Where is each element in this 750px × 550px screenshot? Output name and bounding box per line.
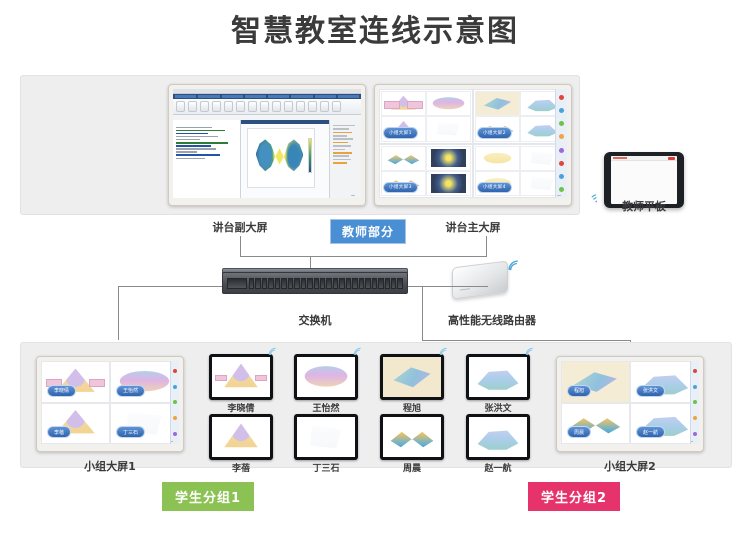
main-quadrant-2[interactable]: 小组大屏2 (473, 89, 567, 144)
group2-screen-name-4: 赵一航 (636, 426, 665, 438)
student-tablet-6[interactable] (466, 354, 530, 400)
podium-main-screen-label: 讲台主大屏 (423, 219, 523, 235)
group2-big-screen[interactable]: 程旭 张洪文 周晨 赵一航 (556, 356, 704, 452)
page-title: 智慧教室连线示意图 (0, 6, 750, 50)
group1-screen-toolbar[interactable] (170, 361, 179, 444)
line-switch-router (408, 286, 488, 287)
line-bottom-right-horizontal (422, 340, 630, 341)
tablet-app-grid[interactable] (611, 161, 677, 169)
student-tablet-4[interactable] (294, 414, 358, 460)
podium-secondary-screen-label: 讲台副大屏 (190, 219, 290, 235)
group2-quadrant-4[interactable]: 赵一航 (630, 403, 699, 445)
line-main-down (486, 236, 487, 257)
wifi-icon-teacher-tablet (590, 192, 603, 205)
surface-plot (247, 128, 315, 188)
ide-ribbon-toolbar (173, 99, 361, 115)
group1-big-screen-label: 小组大屏1 (60, 458, 160, 474)
line-top-horizontal (240, 256, 486, 257)
line-switch-left (118, 286, 222, 287)
network-switch-device (222, 272, 408, 294)
main-screen-toolbar[interactable] (555, 89, 567, 198)
line-router-down-2 (422, 312, 423, 340)
group1-screen-name-1: 李晓倩 (47, 385, 76, 397)
teacher-section-badge: 教师部分 (330, 219, 406, 244)
student-tablet-8[interactable] (466, 414, 530, 460)
ide-figure-window (241, 120, 329, 198)
wifi-icon-tablet-2 (352, 346, 363, 357)
podium-secondary-screen[interactable]: ▬▬ (168, 84, 366, 206)
student-tablet-3[interactable] (209, 414, 273, 460)
group1-quadrant-1[interactable]: 李晓倩 (41, 361, 110, 403)
main-quadrant-1[interactable]: 小组大屏1 (379, 89, 473, 144)
student-tablet-4-label: 丁三石 (291, 461, 361, 474)
group2-quadrant-1[interactable]: 程旭 (561, 361, 630, 403)
switch-label: 交换机 (270, 312, 360, 328)
main-screen-badge-1: 小组大屏1 (383, 127, 418, 138)
main-screen-badge-4: 小组大屏4 (477, 182, 512, 193)
group1-screen-name-3: 李蓓 (47, 426, 71, 438)
ide-right-pane (329, 120, 361, 198)
group2-screen-name-1: 程旭 (567, 385, 591, 397)
main-quadrant-4[interactable]: 小组大屏4 (473, 144, 567, 199)
wireless-router-device (452, 264, 508, 296)
wifi-icon-tablet-1 (267, 346, 278, 357)
podium-main-screen[interactable]: 小组大屏1 小组大屏2 (374, 84, 572, 206)
wifi-icon-router (506, 258, 521, 273)
student-tablet-2[interactable] (294, 354, 358, 400)
group2-screen-toolbar[interactable] (690, 361, 699, 444)
student-tablet-3-label: 李蓓 (206, 461, 276, 474)
ide-body (173, 120, 361, 198)
student-tablet-5-label: 程旭 (377, 401, 447, 414)
student-tablet-6-label: 张洪文 (463, 401, 533, 414)
group1-big-screen[interactable]: 李晓倩 王怡然 李蓓 丁三石 (36, 356, 184, 452)
line-router-down (422, 286, 423, 312)
line-secondary-down (240, 236, 241, 256)
main-quadrant-3[interactable]: 小组大屏3 (379, 144, 473, 199)
student-tablet-1[interactable] (209, 354, 273, 400)
wifi-icon-tablet-6 (524, 346, 535, 357)
line-left-down (118, 286, 119, 340)
group2-badge: 学生分组2 (528, 482, 620, 511)
group2-big-screen-label: 小组大屏2 (580, 458, 680, 474)
student-tablet-8-label: 赵一航 (463, 461, 533, 474)
group2-screen-name-3: 周晨 (567, 426, 591, 438)
student-tablet-2-label: 王怡然 (291, 401, 361, 414)
student-tablet-1-label: 李晓倩 (206, 401, 276, 414)
colorbar (308, 138, 312, 173)
group1-badge: 学生分组1 (162, 482, 254, 511)
student-tablet-7[interactable] (380, 414, 444, 460)
group1-quadrant-3[interactable]: 李蓓 (41, 403, 110, 445)
main-screen-quadrants: 小组大屏1 小组大屏2 (379, 89, 567, 198)
diagram-canvas: 智慧教室连线示意图 (0, 0, 750, 550)
wifi-icon-tablet-5 (438, 346, 449, 357)
main-screen-badge-3: 小组大屏3 (383, 182, 418, 193)
group2-screen-name-2: 张洪文 (636, 385, 665, 397)
group2-quadrant-3[interactable]: 周晨 (561, 403, 630, 445)
group1-quadrant-2[interactable]: 王怡然 (110, 361, 179, 403)
group2-quadrant-2[interactable]: 张洪文 (630, 361, 699, 403)
ide-code-editor (173, 120, 241, 198)
group1-quadrant-4[interactable]: 丁三石 (110, 403, 179, 445)
group1-screen-name-4: 丁三石 (116, 426, 145, 438)
main-screen-badge-2: 小组大屏2 (477, 127, 512, 138)
router-label: 高性能无线路由器 (432, 312, 552, 328)
ide-window (173, 89, 361, 198)
student-tablet-7-label: 周晨 (377, 461, 447, 474)
group1-screen-name-2: 王怡然 (116, 385, 145, 397)
teacher-tablet-label: 教师平板 (608, 198, 680, 214)
student-tablet-5[interactable] (380, 354, 444, 400)
